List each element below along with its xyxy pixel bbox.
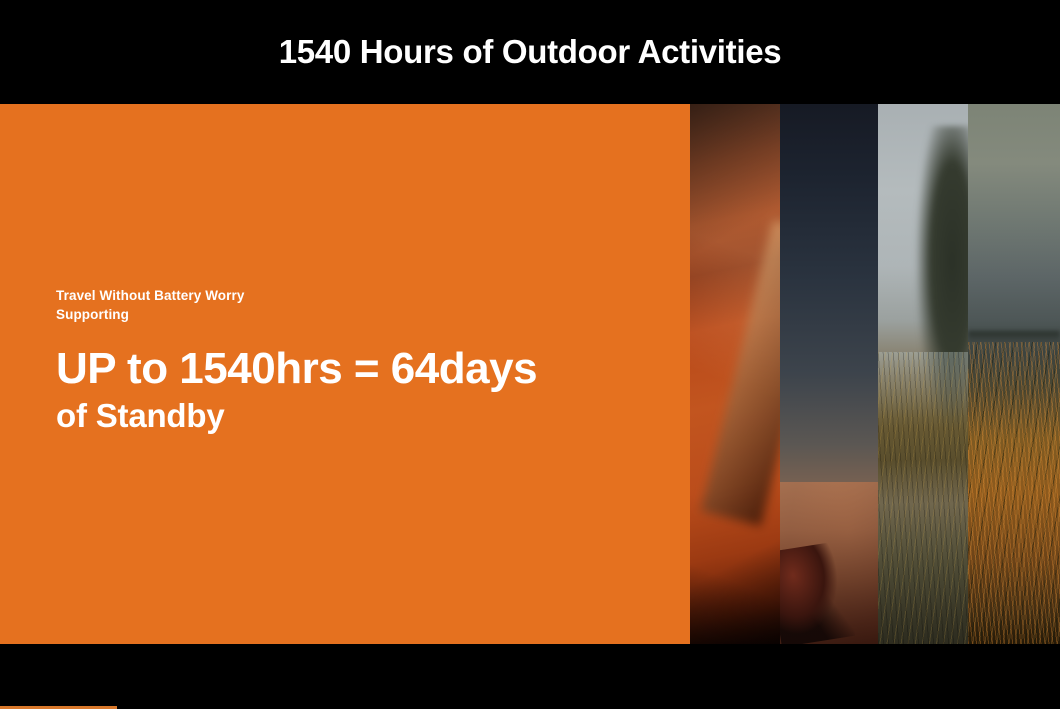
header-bar: 1540 Hours of Outdoor Activities — [0, 0, 1060, 104]
hero-subheadline: of Standby — [56, 396, 676, 436]
page-title: 1540 Hours of Outdoor Activities — [279, 33, 782, 71]
hero-copy-block: Travel Without Battery Worry Supporting … — [56, 287, 676, 436]
slide-root: 1540 Hours of Outdoor Activities Travel … — [0, 0, 1060, 709]
desert-dusk-photo — [780, 104, 878, 644]
hero-eyebrow-line-1: Travel Without Battery Worry — [56, 287, 676, 306]
hero-headline: UP to 1540hrs = 64days — [56, 341, 676, 397]
hero-eyebrow: Travel Without Battery Worry Supporting — [56, 287, 676, 324]
footer-bar: king or Trekking — [0, 644, 1060, 709]
hero-section: Travel Without Battery Worry Supporting … — [0, 104, 1060, 644]
tent-fabric-photo — [690, 104, 780, 644]
misty-field-photo — [878, 104, 968, 644]
hero-copy-panel: Travel Without Battery Worry Supporting … — [0, 104, 690, 644]
savanna-sunset-photo — [968, 104, 1060, 644]
hero-eyebrow-line-2: Supporting — [56, 306, 676, 325]
